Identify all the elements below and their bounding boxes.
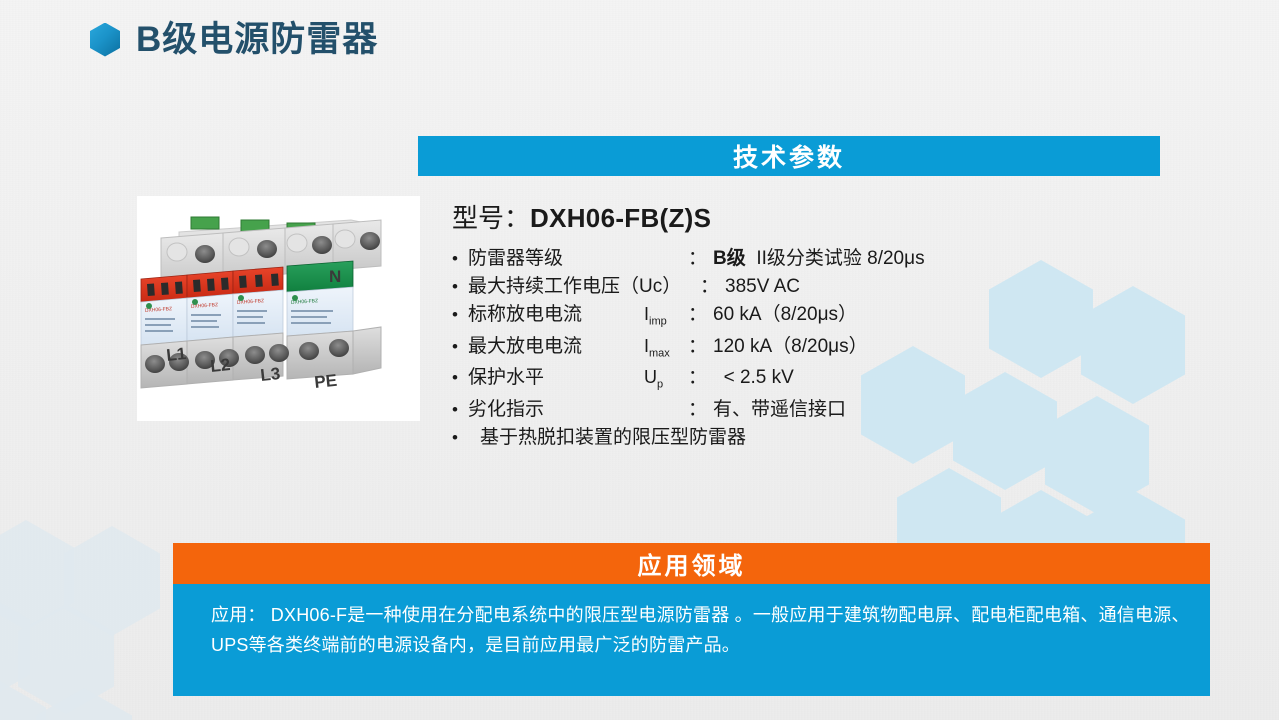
- spec-colon: ：: [688, 249, 713, 268]
- model-line: 型号：DXH06-FB(Z)S: [452, 198, 972, 235]
- hexagon-icon: [0, 520, 74, 630]
- spec-colon: ：: [688, 337, 713, 356]
- list-bullet: •: [452, 369, 468, 386]
- spec-value: < 2.5 kV: [713, 368, 794, 387]
- spec-symbol: Iimp: [644, 305, 688, 328]
- pole-label-l3: L3: [259, 364, 281, 385]
- product-image: DXH06-FBZ DXH06-FBZ DXH06-FBZ DXH06-FBZ: [137, 196, 420, 421]
- spec-label: 标称放电电流: [468, 305, 644, 324]
- list-bullet: •: [452, 250, 468, 267]
- application-header-label: 应用领域: [638, 546, 746, 581]
- spec-symbol-sub: p: [657, 379, 663, 391]
- pole-label-l2: L2: [209, 355, 231, 376]
- application-header: 应用领域: [173, 543, 1210, 584]
- model-label: 型号：: [452, 203, 530, 233]
- spec-value: 385V AC: [725, 277, 800, 296]
- spec-label: 保护水平: [468, 368, 644, 387]
- spec-colon: ：: [688, 400, 713, 419]
- spd-module-illustration: DXH06-FBZ DXH06-FBZ DXH06-FBZ DXH06-FBZ: [137, 196, 420, 421]
- list-bullet: •: [452, 306, 468, 323]
- application-text: 应用： DXH06-F是一种使用在分配电系统中的限压型电源防雷器 。一般应用于建…: [211, 600, 1196, 660]
- spec-value: 有、带遥信接口: [713, 400, 846, 419]
- spec-label: 劣化指示: [468, 400, 644, 419]
- hexagon-icon: [36, 688, 132, 720]
- spec-row-indicator: • 劣化指示 ： 有、带遥信接口: [452, 400, 972, 419]
- spec-colon: ：: [688, 368, 713, 387]
- list-bullet: •: [452, 338, 468, 355]
- spec-symbol: Imax: [644, 337, 688, 360]
- hexagon-icon: [64, 526, 160, 636]
- list-bullet: •: [452, 429, 468, 446]
- hexagon-icon: [989, 260, 1093, 378]
- spec-value: B级 II级分类试验 8/20μs: [713, 249, 925, 268]
- spec-label: 基于热脱扣装置的限压型防雷器: [468, 428, 746, 447]
- spec-symbol-base: U: [644, 367, 657, 387]
- hexagon-icon: [0, 592, 30, 702]
- pole-label-pe: PE: [313, 371, 338, 392]
- model-value: DXH06-FB(Z)S: [530, 203, 711, 233]
- spec-value: 120 kA（8/20μs）: [713, 337, 868, 356]
- spec-colon: ：: [688, 305, 713, 324]
- tech-params-header: 技术参数: [418, 136, 1160, 176]
- spec-row-note: • 基于热脱扣装置的限压型防雷器: [452, 428, 972, 447]
- pole-label-n: N: [329, 267, 341, 286]
- list-bullet: •: [452, 278, 468, 295]
- spec-colon: ：: [700, 277, 725, 296]
- slide-canvas: B级电源防雷器 技术参数: [0, 0, 1279, 720]
- spec-value: 60 kA（8/20μs）: [713, 305, 857, 324]
- hexagon-icon: [90, 23, 120, 57]
- spec-symbol: Up: [644, 368, 688, 391]
- hexagon-icon: [18, 604, 114, 714]
- spec-label: 最大放电电流: [468, 337, 644, 356]
- hexagon-icon: [0, 680, 46, 720]
- list-bullet: •: [452, 401, 468, 418]
- hexagon-icon: [1045, 396, 1149, 514]
- spec-row-uc: • 最大持续工作电压（Uc） ： 385V AC: [452, 277, 972, 296]
- application-body: 应用： DXH06-F是一种使用在分配电系统中的限压型电源防雷器 。一般应用于建…: [173, 584, 1210, 696]
- spec-row-grade: • 防雷器等级 ： B级 II级分类试验 8/20μs: [452, 249, 972, 268]
- spec-label: 最大持续工作电压（Uc）: [468, 277, 700, 296]
- spec-row-iimp: • 标称放电电流 Iimp ： 60 kA（8/20μs）: [452, 305, 972, 328]
- page-title-text: B级电源防雷器: [136, 22, 378, 57]
- spec-value-bold: B级: [713, 248, 746, 269]
- hexagon-icon: [1081, 286, 1185, 404]
- spec-row-imax: • 最大放电电流 Imax ： 120 kA（8/20μs）: [452, 337, 972, 360]
- tech-params-header-label: 技术参数: [733, 138, 845, 174]
- spec-symbol-sub: imp: [649, 316, 667, 328]
- page-title: B级电源防雷器: [90, 22, 378, 57]
- pole-label-l1: L1: [165, 344, 187, 365]
- spec-value-text: < 2.5 kV: [724, 367, 794, 388]
- spec-value-rest: II级分类试验 8/20μs: [756, 248, 924, 269]
- spec-label: 防雷器等级: [468, 249, 644, 268]
- spec-row-up: • 保护水平 Up ： < 2.5 kV: [452, 368, 972, 391]
- spec-symbol-sub: max: [649, 347, 670, 359]
- tech-params-body: 型号：DXH06-FB(Z)S • 防雷器等级 ： B级 II级分类试验 8/2…: [452, 198, 972, 456]
